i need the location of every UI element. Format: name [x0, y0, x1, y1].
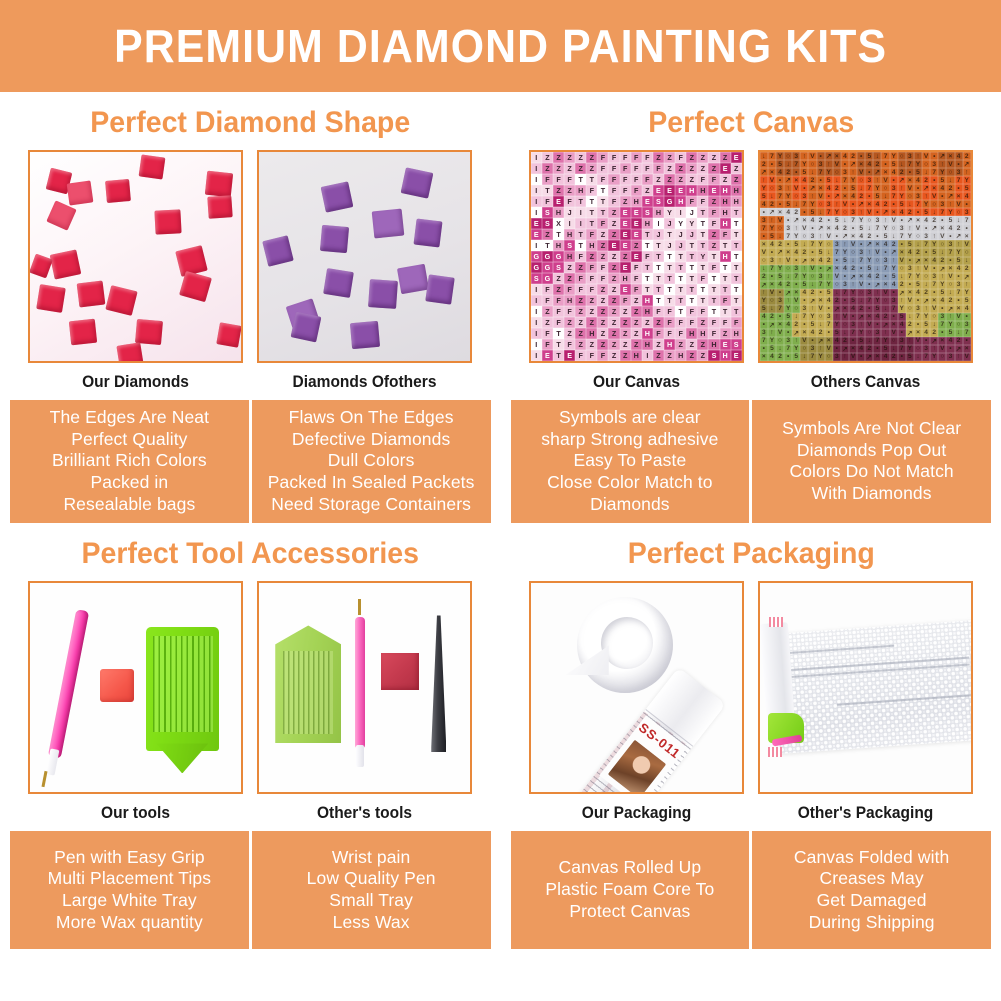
canvas-symbol-cell: 4 [930, 257, 938, 265]
canvas-symbol-cell: T [664, 262, 675, 273]
canvas-symbol-cell: F [542, 174, 553, 185]
canvas-symbol-cell: Z [697, 152, 708, 163]
canvas-symbol-cell: × [857, 273, 865, 281]
canvas-symbol-cell: Z [620, 317, 631, 328]
canvas-symbol-cell: ↓ [898, 160, 906, 168]
canvas-symbol-cell: 5 [881, 232, 889, 240]
canvas-symbol-cell: F [642, 174, 653, 185]
canvas-symbol-cell: 4 [938, 184, 946, 192]
canvas-symbol-cell: 4 [857, 345, 865, 353]
canvas-symbol-cell: 3 [922, 232, 930, 240]
canvas-symbol-cell: • [938, 192, 946, 200]
canvas-symbol-cell: T [664, 295, 675, 306]
canvas-symbol-cell: Y [792, 232, 800, 240]
canvas-symbol-cell: ↓ [776, 232, 784, 240]
canvas-symbol-cell: ↗ [938, 152, 946, 160]
canvas-symbol-cell: ↑ [784, 297, 792, 305]
feature-box: The Edges Are NeatPerfect QualityBrillia… [10, 400, 491, 523]
canvas-symbol-cell: Z [597, 317, 608, 328]
canvas-symbol-cell: E [642, 196, 653, 207]
canvas-symbol-cell: T [708, 306, 719, 317]
canvas-symbol-cell: × [865, 200, 873, 208]
canvas-symbol-cell: E [542, 350, 553, 361]
canvas-symbol-cell: T [720, 273, 731, 284]
canvas-symbol-cell: • [938, 329, 946, 337]
canvas-symbol-cell: E [631, 218, 642, 229]
canvas-symbol-cell: • [898, 216, 906, 224]
red-diamonds-photo [28, 150, 243, 363]
canvas-symbol-cell: Z [564, 328, 575, 339]
canvas-symbol-cell: Z [608, 350, 619, 361]
canvas-symbol-cell: ↑ [914, 265, 922, 273]
canvas-symbol-cell: × [800, 329, 808, 337]
canvas-symbol-cell: T [586, 196, 597, 207]
canvas-symbol-cell: • [873, 232, 881, 240]
canvas-symbol-cell: Z [542, 306, 553, 317]
canvas-symbol-cell: ↗ [898, 176, 906, 184]
canvas-symbol-cell: × [808, 257, 816, 265]
canvas-symbol-cell: • [760, 208, 768, 216]
canvas-symbol-cell: × [890, 208, 898, 216]
canvas-symbol-cell: Z [586, 251, 597, 262]
canvas-symbol-cell: ↓ [841, 329, 849, 337]
canvas-symbol-cell: Z [542, 163, 553, 174]
canvas-symbol-cell: ↓ [881, 192, 889, 200]
canvas-symbol-cell: ○ [817, 200, 825, 208]
canvas-symbol-cell: 3 [906, 152, 914, 160]
canvas-symbol-cell: 2 [849, 265, 857, 273]
canvas-symbol-cell: 7 [955, 176, 963, 184]
canvas-symbol-cell: F [708, 218, 719, 229]
section-canvas: Perfect Canvas IZZZZZFFFFFZZFZZZZEIZZZZZ… [501, 92, 1001, 523]
canvas-symbol-cell: • [833, 232, 841, 240]
canvas-symbol-cell: ↗ [849, 273, 857, 281]
canvas-symbol-cell: F [575, 350, 586, 361]
canvas-symbol-cell: G [542, 251, 553, 262]
canvas-symbol-cell: I [531, 317, 542, 328]
canvas-symbol-cell: 2 [817, 329, 825, 337]
canvas-symbol-cell: 7 [841, 176, 849, 184]
canvas-symbol-cell: 2 [841, 224, 849, 232]
feature-line: sharp Strong adhesive [515, 429, 746, 451]
canvas-symbol-cell: 5 [808, 208, 816, 216]
canvas-symbol-cell: • [955, 160, 963, 168]
canvas-symbol-cell: V [865, 208, 873, 216]
canvas-symbol-cell: • [792, 168, 800, 176]
canvas-symbol-cell: ↗ [963, 160, 971, 168]
canvas-symbol-cell: Z [564, 262, 575, 273]
canvas-symbol-cell: E [553, 196, 564, 207]
canvas-symbol-cell: S [542, 218, 553, 229]
canvas-symbol-cell: × [833, 265, 841, 273]
canvas-symbol-cell: 7 [808, 353, 816, 361]
our-tools-photo [28, 581, 243, 794]
canvas-symbol-cell: 3 [881, 257, 889, 265]
canvas-symbol-cell: ↓ [898, 273, 906, 281]
pink-canvas-photo: IZZZZZFFFFFZZFZZZZEIZZZZZFFFFFFZZZZZEZIF… [529, 150, 744, 363]
canvas-symbol-cell: ○ [914, 345, 922, 353]
canvas-symbol-cell: 2 [881, 200, 889, 208]
canvas-symbol-cell: 5 [914, 281, 922, 289]
canvas-symbol-cell: ○ [930, 200, 938, 208]
canvas-symbol-cell: ↗ [857, 313, 865, 321]
canvas-symbol-cell: I [675, 207, 686, 218]
canvas-symbol-cell: 5 [938, 176, 946, 184]
canvas-symbol-cell: 7 [776, 305, 784, 313]
canvas-symbol-cell: I [531, 240, 542, 251]
canvas-symbol-cell: F [642, 251, 653, 262]
canvas-symbol-cell: ○ [800, 232, 808, 240]
canvas-symbol-cell: Z [608, 339, 619, 350]
canvas-symbol-cell: 2 [930, 329, 938, 337]
canvas-symbol-cell: Y [906, 345, 914, 353]
feature-col-ours: Pen with Easy GripMulti Placement TipsLa… [10, 831, 252, 949]
canvas-symbol-cell: T [731, 295, 742, 306]
canvas-symbol-cell: ↑ [898, 184, 906, 192]
canvas-symbol-cell: Z [553, 284, 564, 295]
canvas-symbol-cell: I [531, 328, 542, 339]
canvas-symbol-cell: Y [784, 192, 792, 200]
canvas-symbol-cell: • [841, 297, 849, 305]
canvas-symbol-cell: ○ [760, 257, 768, 265]
canvas-symbol-cell: × [930, 184, 938, 192]
canvas-symbol-cell: T [708, 273, 719, 284]
canvas-symbol-cell: E [720, 339, 731, 350]
panel-others: ↓7Y○3↑V•↗×42•5↓7Y○3↑V•↗×422•5↓7Y○3↑V•↗×4… [758, 150, 973, 400]
canvas-symbol-cell: 2 [857, 192, 865, 200]
canvas-symbol-cell: • [800, 321, 808, 329]
canvas-symbol-cell: ↓ [817, 208, 825, 216]
canvas-symbol-cell: Y [841, 248, 849, 256]
canvas-symbol-cell: V [768, 289, 776, 297]
canvas-symbol-cell: 4 [873, 313, 881, 321]
canvas-symbol-cell: ↓ [914, 240, 922, 248]
canvas-symbol-cell: F [597, 218, 608, 229]
canvas-symbol-cell: × [914, 329, 922, 337]
canvas-symbol-cell: 2 [914, 248, 922, 256]
canvas-symbol-cell: Y [825, 168, 833, 176]
canvas-symbol-cell: X [553, 218, 564, 229]
canvas-symbol-cell: Z [608, 306, 619, 317]
canvas-symbol-cell: 3 [784, 224, 792, 232]
canvas-symbol-cell: H [686, 185, 697, 196]
canvas-symbol-cell: S [653, 196, 664, 207]
canvas-symbol-cell: Z [720, 328, 731, 339]
canvas-symbol-cell: F [608, 185, 619, 196]
canvas-symbol-cell: H [731, 328, 742, 339]
canvas-symbol-cell: × [857, 160, 865, 168]
feature-line: Easy To Paste [515, 450, 746, 472]
canvas-symbol-cell: 7 [800, 200, 808, 208]
canvas-symbol-cell: Z [597, 284, 608, 295]
canvas-symbol-cell: ↗ [914, 257, 922, 265]
canvas-symbol-cell: • [898, 240, 906, 248]
canvas-symbol-cell: T [675, 284, 686, 295]
canvas-symbol-cell: Z [631, 328, 642, 339]
canvas-symbol-cell: ↓ [873, 152, 881, 160]
canvas-symbol-cell: 3 [800, 192, 808, 200]
canvas-symbol-cell: 5 [776, 273, 784, 281]
canvas-symbol-cell: • [906, 257, 914, 265]
canvas-symbol-cell: F [564, 196, 575, 207]
canvas-symbol-cell: ○ [776, 224, 784, 232]
canvas-symbol-cell: × [914, 216, 922, 224]
canvas-symbol-cell: 5 [776, 160, 784, 168]
canvas-symbol-cell: 3 [800, 305, 808, 313]
canvas-symbol-cell: × [825, 337, 833, 345]
canvas-symbol-cell: I [531, 185, 542, 196]
canvas-symbol-cell: × [776, 321, 784, 329]
canvas-symbol-cell: Y [857, 216, 865, 224]
canvas-symbol-cell: 5 [898, 313, 906, 321]
canvas-symbol-cell: ↑ [760, 289, 768, 297]
canvas-symbol-cell: 5 [873, 305, 881, 313]
canvas-symbol-cell: 2 [841, 337, 849, 345]
canvas-symbol-cell: Y [686, 218, 697, 229]
canvas-symbol-cell: T [642, 273, 653, 284]
canvas-symbol-cell: I [531, 295, 542, 306]
feature-line: Symbols Are Not Clear [756, 418, 987, 440]
canvas-symbol-cell: 4 [833, 337, 841, 345]
canvas-symbol-cell: F [597, 174, 608, 185]
canvas-symbol-cell: ○ [833, 168, 841, 176]
canvas-symbol-cell: F [675, 328, 686, 339]
canvas-symbol-cell: 7 [800, 313, 808, 321]
canvas-symbol-cell: ↓ [841, 216, 849, 224]
canvas-symbol-cell: E [620, 262, 631, 273]
canvas-symbol-cell: 7 [946, 248, 954, 256]
canvas-symbol-cell: Z [597, 240, 608, 251]
canvas-symbol-cell: ↓ [768, 305, 776, 313]
feature-col-others: Canvas Folded withCreases MayGet Damaged… [752, 831, 991, 949]
canvas-symbol-cell: Z [697, 163, 708, 174]
canvas-symbol-cell: × [784, 248, 792, 256]
canvas-symbol-cell: V [833, 160, 841, 168]
canvas-symbol-cell: V [776, 216, 784, 224]
canvas-symbol-cell: T [575, 174, 586, 185]
canvas-symbol-cell: J [564, 207, 575, 218]
canvas-symbol-cell: H [653, 207, 664, 218]
canvas-symbol-cell: • [930, 289, 938, 297]
canvas-symbol-cell: T [653, 284, 664, 295]
canvas-symbol-cell: • [881, 273, 889, 281]
canvas-symbol-cell: ↗ [768, 321, 776, 329]
canvas-symbol-cell: ↗ [898, 289, 906, 297]
feature-line: Packed in [14, 472, 245, 494]
canvas-symbol-cell: Z [620, 251, 631, 262]
canvas-symbol-cell: × [841, 192, 849, 200]
canvas-symbol-cell: ↑ [881, 329, 889, 337]
canvas-symbol-cell: 5 [800, 281, 808, 289]
canvas-symbol-cell: Y [898, 192, 906, 200]
canvas-symbol-cell: 3 [792, 265, 800, 273]
canvas-symbol-cell: × [906, 176, 914, 184]
panel-caption: Our Canvas [535, 363, 737, 400]
canvas-symbol-cell: 5 [906, 353, 914, 361]
canvas-symbol-cell: F [631, 284, 642, 295]
canvas-symbol-cell: H [686, 328, 697, 339]
panel-ours: Our tools [28, 581, 243, 831]
canvas-symbol-cell: ↗ [963, 273, 971, 281]
canvas-symbol-cell: 5 [768, 345, 776, 353]
feature-line: With Diamonds [756, 483, 987, 505]
canvas-symbol-cell: E [664, 185, 675, 196]
canvas-symbol-cell: T [597, 207, 608, 218]
canvas-symbol-cell: × [906, 289, 914, 297]
canvas-symbol-cell: ↓ [849, 257, 857, 265]
canvas-symbol-cell: V [825, 232, 833, 240]
feature-line: Diamonds Pop Out [756, 440, 987, 462]
canvas-symbol-cell: 7 [914, 313, 922, 321]
canvas-symbol-cell: 7 [955, 289, 963, 297]
canvas-symbol-cell: ↓ [833, 289, 841, 297]
canvas-symbol-cell: Z [664, 163, 675, 174]
canvas-symbol-cell: ○ [825, 353, 833, 361]
canvas-symbol-cell: T [731, 207, 742, 218]
canvas-symbol-cell: • [784, 240, 792, 248]
feature-line: Need Storage Containers [256, 494, 487, 516]
canvas-symbol-cell: × [817, 297, 825, 305]
canvas-symbol-cell: ↗ [873, 168, 881, 176]
canvas-symbol-cell: 4 [906, 248, 914, 256]
canvas-symbol-cell: Y [817, 240, 825, 248]
canvas-symbol-cell: ↓ [890, 345, 898, 353]
canvas-symbol-cell: H [586, 328, 597, 339]
canvas-symbol-cell: T [720, 284, 731, 295]
canvas-symbol-cell: F [575, 284, 586, 295]
canvas-symbol-cell: ↑ [760, 176, 768, 184]
canvas-symbol-cell: 5 [760, 192, 768, 200]
page-header-banner: PREMIUM DIAMOND PAINTING KITS [0, 0, 1001, 92]
canvas-symbol-cell: • [930, 152, 938, 160]
canvas-symbol-cell: Y [865, 257, 873, 265]
canvas-symbol-cell: ↑ [946, 200, 954, 208]
canvas-symbol-cell: • [857, 240, 865, 248]
canvas-symbol-cell: • [825, 305, 833, 313]
feature-line: Close Color Match to [515, 472, 746, 494]
canvas-symbol-cell: V [955, 200, 963, 208]
canvas-symbol-cell: × [776, 208, 784, 216]
canvas-symbol-cell: 5 [873, 192, 881, 200]
canvas-symbol-cell: • [776, 200, 784, 208]
comparison-grid: Perfect Diamond Shape [0, 92, 1001, 949]
canvas-symbol-cell: H [564, 251, 575, 262]
canvas-symbol-cell: ↗ [906, 329, 914, 337]
canvas-symbol-cell: ↑ [906, 337, 914, 345]
canvas-symbol-cell: ↓ [865, 337, 873, 345]
canvas-symbol-cell: • [825, 216, 833, 224]
canvas-symbol-cell: T [664, 273, 675, 284]
canvas-symbol-cell: S [542, 207, 553, 218]
canvas-symbol-cell: Z [608, 317, 619, 328]
canvas-symbol-cell: Z [631, 306, 642, 317]
canvas-symbol-cell: V [890, 329, 898, 337]
canvas-symbol-cell: Z [608, 273, 619, 284]
canvas-symbol-cell: Z [631, 295, 642, 306]
muddy-canvas-photo: ↓7Y○3↑V•↗×42•5↓7Y○3↑V•↗×422•5↓7Y○3↑V•↗×4… [758, 150, 973, 363]
canvas-symbol-cell: × [825, 224, 833, 232]
canvas-symbol-cell: I [531, 339, 542, 350]
canvas-symbol-cell: 3 [768, 257, 776, 265]
feature-line: Packed In Sealed Packets [256, 472, 487, 494]
canvas-symbol-cell: ○ [906, 305, 914, 313]
canvas-symbol-cell: 2 [955, 337, 963, 345]
canvas-symbol-cell: ↗ [881, 321, 889, 329]
canvas-symbol-cell: F [586, 284, 597, 295]
canvas-symbol-cell: F [653, 163, 664, 174]
canvas-symbol-cell: × [768, 168, 776, 176]
canvas-symbol-cell: 4 [938, 297, 946, 305]
canvas-symbol-cell: T [553, 328, 564, 339]
feature-col-others: Flaws On The EdgesDefective DiamondsDull… [252, 400, 491, 523]
canvas-symbol-cell: × [881, 168, 889, 176]
canvas-symbol-cell: Z [675, 163, 686, 174]
canvas-symbol-cell: J [675, 229, 686, 240]
canvas-symbol-cell: T [686, 295, 697, 306]
canvas-symbol-cell: 7 [760, 337, 768, 345]
canvas-symbol-cell: V [768, 176, 776, 184]
canvas-symbol-cell: Z [686, 152, 697, 163]
canvas-symbol-cell: T [575, 229, 586, 240]
canvas-symbol-cell: 2 [946, 297, 954, 305]
canvas-symbol-cell: Y [817, 353, 825, 361]
canvas-symbol-cell: 3 [841, 281, 849, 289]
panel-row: IZZZZZFFFFFZZFZZZZEIZZZZZFFFFFFZZZZZEZIF… [509, 150, 994, 400]
canvas-symbol-cell: 7 [792, 160, 800, 168]
canvas-symbol-cell: ↑ [955, 240, 963, 248]
canvas-symbol-cell: • [792, 257, 800, 265]
canvas-symbol-cell: Z [586, 339, 597, 350]
canvas-symbol-cell: Z [653, 152, 664, 163]
canvas-symbol-cell: S [708, 350, 719, 361]
canvas-symbol-cell: ↑ [784, 184, 792, 192]
canvas-symbol-cell: • [760, 232, 768, 240]
canvas-symbol-cell: Z [597, 229, 608, 240]
canvas-symbol-cell: ↗ [760, 281, 768, 289]
mailer-tape [768, 747, 782, 757]
canvas-symbol-cell: F [608, 163, 619, 174]
canvas-symbol-cell: Z [664, 152, 675, 163]
canvas-symbol-cell: Z [708, 196, 719, 207]
canvas-symbol-cell: ↑ [817, 232, 825, 240]
canvas-symbol-cell: 7 [841, 289, 849, 297]
canvas-symbol-cell: V [792, 297, 800, 305]
canvas-symbol-cell: 4 [881, 240, 889, 248]
canvas-symbol-cell: F [597, 152, 608, 163]
canvas-symbol-cell: 7 [906, 160, 914, 168]
canvas-symbol-cell: E [731, 152, 742, 163]
canvas-symbol-cell: V [930, 192, 938, 200]
canvas-symbol-cell: ○ [784, 265, 792, 273]
canvas-symbol-cell: Y [890, 265, 898, 273]
canvas-symbol-cell: 5 [914, 168, 922, 176]
canvas-symbol-cell: ↓ [857, 297, 865, 305]
canvas-symbol-cell: • [857, 152, 865, 160]
canvas-symbol-cell: ○ [865, 216, 873, 224]
canvas-symbol-cell: 2 [760, 160, 768, 168]
canvas-symbol-cell: T [586, 174, 597, 185]
canvas-symbol-cell: 7 [849, 216, 857, 224]
canvas-symbol-cell: 4 [817, 257, 825, 265]
canvas-symbol-cell: × [873, 240, 881, 248]
canvas-symbol-cell: Y [914, 273, 922, 281]
canvas-symbol-cell: ○ [792, 305, 800, 313]
canvas-symbol-cell: V [906, 184, 914, 192]
panel-ours: Our Diamonds [28, 150, 243, 400]
canvas-symbol-cell: × [922, 257, 930, 265]
canvas-symbol-cell: T [642, 240, 653, 251]
canvas-symbol-cell: ↑ [963, 281, 971, 289]
